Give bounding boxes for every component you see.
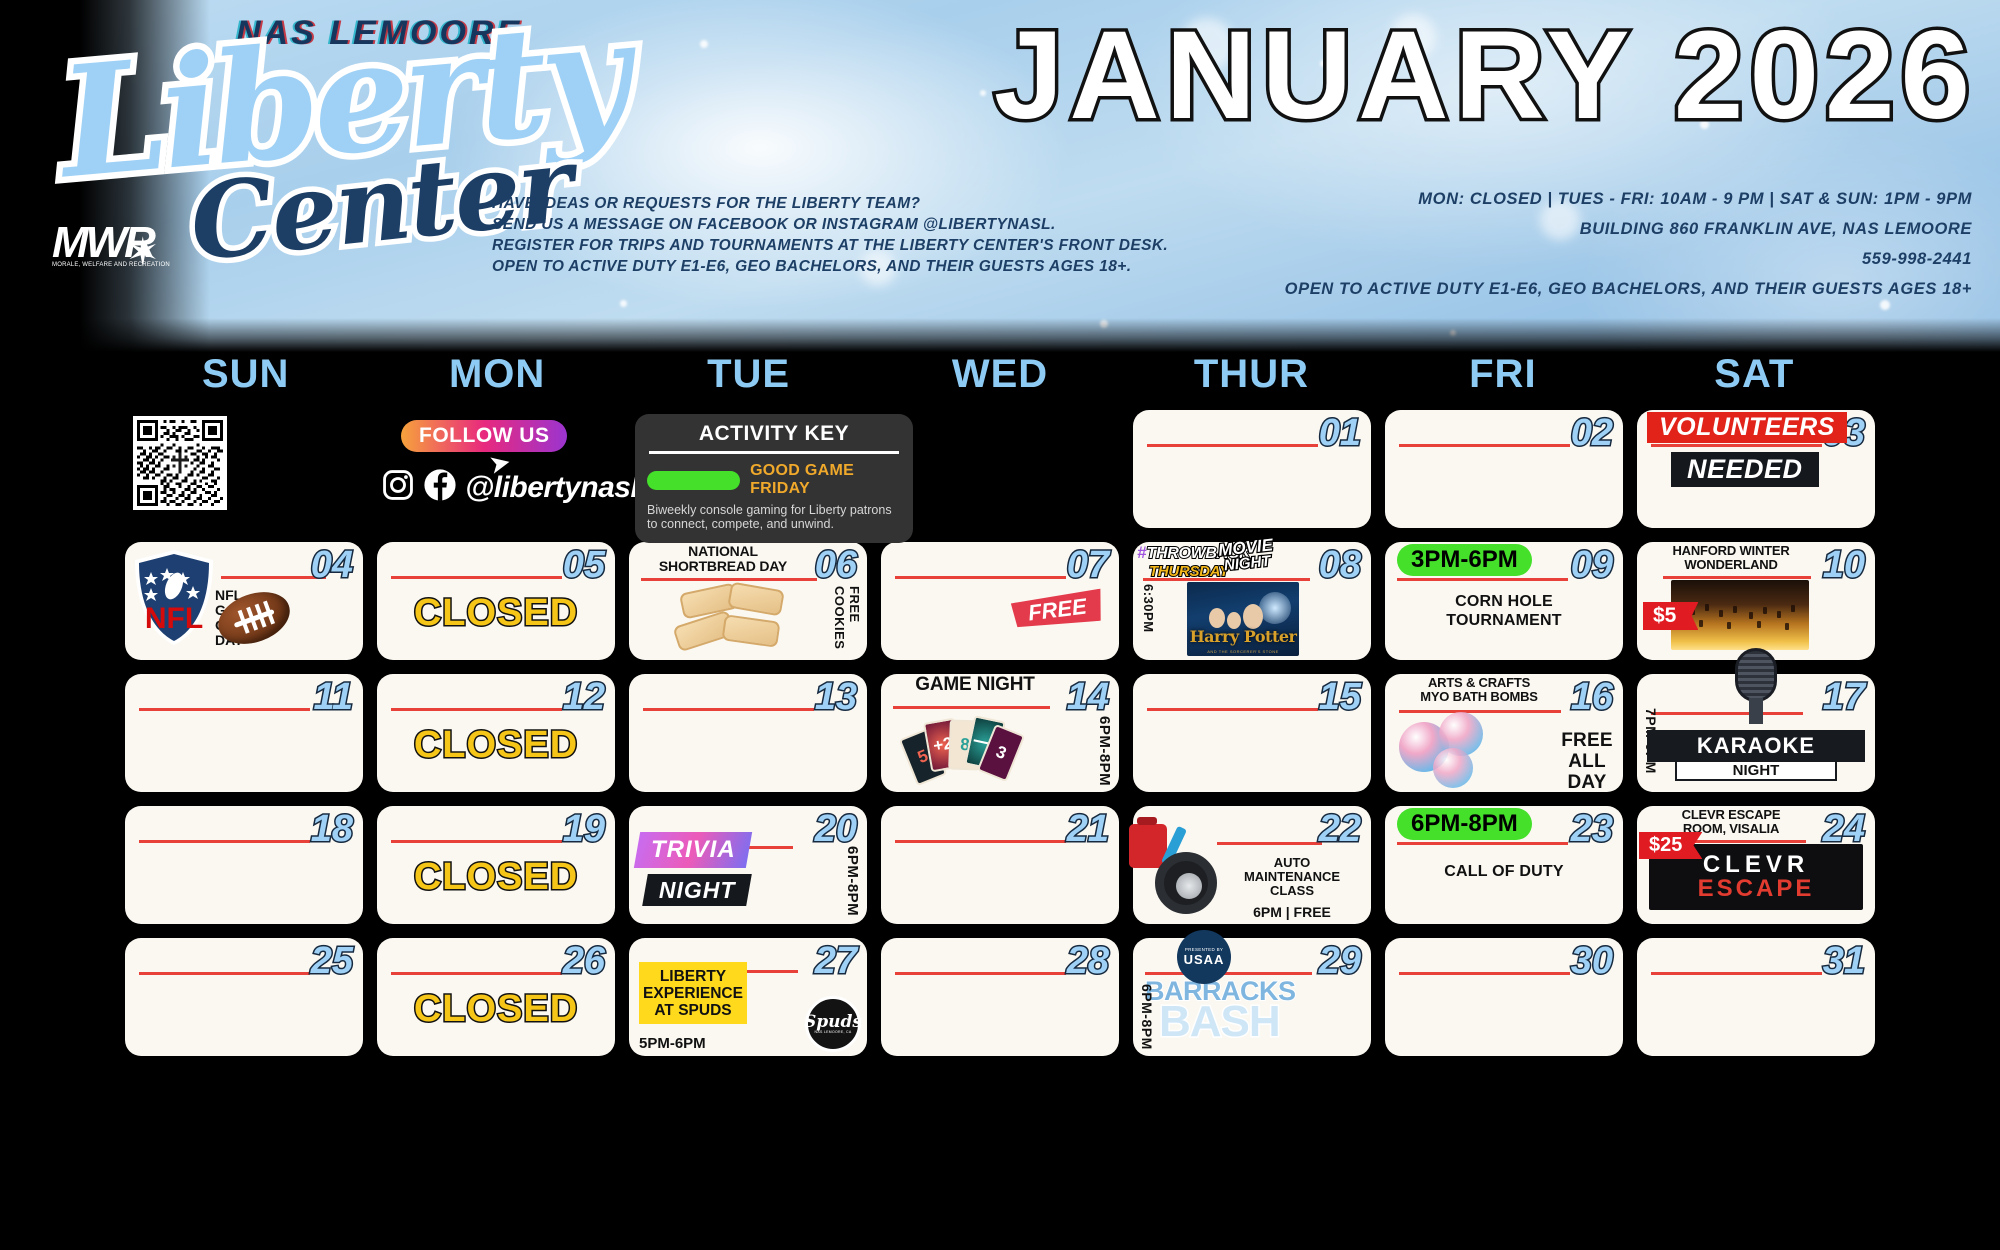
cell-rule bbox=[643, 708, 814, 711]
activity-key-divider bbox=[649, 451, 899, 454]
qr-code-icon bbox=[137, 420, 223, 506]
day-number: 31 bbox=[1823, 942, 1865, 980]
weekday-fri: FRI bbox=[1377, 352, 1628, 406]
karaoke-night-label: NIGHT bbox=[1675, 760, 1837, 781]
day-number: 04 bbox=[311, 546, 353, 584]
page-title: JANUARY 2026 bbox=[994, 16, 1976, 136]
day-cell-22[interactable]: 22 AUTOMAINTENANCECLASS 6PM | FREE bbox=[1133, 806, 1371, 924]
cell-rule bbox=[139, 972, 310, 975]
cell-rule bbox=[893, 706, 1050, 709]
spuds-logo-text: Spuds bbox=[804, 1014, 862, 1030]
day-number: 22 bbox=[1319, 810, 1361, 848]
good-game-friday-label: GOOD GAME FRIDAY bbox=[750, 462, 901, 498]
day-number: 16 bbox=[1571, 678, 1613, 716]
spuds-logo: Spuds NAS LEMOORE, CA bbox=[805, 996, 861, 1052]
day-cell-01[interactable]: 01 bbox=[1133, 410, 1371, 528]
mwr-logo: MWR MORALE, WELFARE AND RECREATION ✶ bbox=[52, 222, 170, 268]
weekday-wed: WED bbox=[874, 352, 1125, 406]
day-cell-09[interactable]: 09 3PM-6PM CORN HOLETOURNAMENT bbox=[1385, 542, 1623, 660]
poster-subtitle: AND THE SORCERER'S STONE bbox=[1187, 649, 1299, 654]
cell-rule bbox=[1651, 972, 1822, 975]
closed-label: CLOSED bbox=[414, 594, 578, 632]
day-number: 25 bbox=[311, 942, 353, 980]
shortbread-title: NATIONALSHORTBREAD DAY bbox=[637, 544, 809, 574]
day-cell-04[interactable]: 04 NFL NFLGAMESON ALLDAY bbox=[125, 542, 363, 660]
free-cookies-vertical-label: FREE COOKIES bbox=[832, 586, 862, 660]
day-cell-21[interactable]: 21 bbox=[881, 806, 1119, 924]
closed-label: CLOSED bbox=[414, 858, 578, 896]
spuds-time-label: 5PM-6PM bbox=[639, 1035, 706, 1052]
day-cell-20[interactable]: 20 TRIVIA NIGHT 6PM-8PM bbox=[629, 806, 867, 924]
movie-night-label: MOVIENIGHT bbox=[1218, 537, 1276, 574]
activity-key-entry: GOOD GAME FRIDAY bbox=[647, 462, 901, 498]
auto-maintenance-image bbox=[1129, 818, 1225, 918]
day-cell-27[interactable]: 27 LIBERTYEXPERIENCEAT SPUDS Spuds NAS L… bbox=[629, 938, 867, 1056]
auto-class-time: 6PM | FREE bbox=[1217, 904, 1367, 920]
day-number: 08 bbox=[1319, 546, 1361, 584]
day-number: 05 bbox=[563, 546, 605, 584]
phone-line: 559-998-2441 bbox=[1285, 244, 1972, 274]
day-cell-25[interactable]: 25 bbox=[125, 938, 363, 1056]
day-number: 02 bbox=[1571, 414, 1613, 452]
good-game-friday-chip bbox=[647, 471, 740, 490]
day-number: 19 bbox=[563, 810, 605, 848]
qr-code[interactable] bbox=[133, 416, 227, 510]
day-number: 01 bbox=[1319, 414, 1361, 452]
day-cell-17[interactable]: 17 7PM-9PM KARAOKE NIGHT bbox=[1637, 674, 1875, 792]
price-tag: $25 bbox=[1639, 832, 1702, 859]
activity-key-panel: ACTIVITY KEY GOOD GAME FRIDAY Biweekly c… bbox=[635, 414, 913, 543]
day-cell-02[interactable]: 02 bbox=[1385, 410, 1623, 528]
weekday-sun: SUN bbox=[120, 352, 371, 406]
escape-word: ESCAPE bbox=[1698, 877, 1815, 901]
bath-bombs-image bbox=[1399, 704, 1495, 786]
header-info-left-line-2: SEND US A MESSAGE ON FACEBOOK OR INSTAGR… bbox=[492, 214, 1168, 235]
time-vertical-label: 6:30PM bbox=[1141, 584, 1156, 633]
time-vertical-label: 6PM-8PM bbox=[844, 846, 861, 916]
day-number: 10 bbox=[1823, 546, 1865, 584]
activity-key-title: ACTIVITY KEY bbox=[647, 422, 901, 446]
day-number: 07 bbox=[1067, 546, 1109, 584]
address-line: BUILDING 860 FRANKLIN AVE, NAS LEMOORE bbox=[1285, 214, 1972, 244]
weekday-sat: SAT bbox=[1629, 352, 1880, 406]
clevr-word: CLEVR bbox=[1703, 853, 1809, 877]
activity-key-cell: ACTIVITY KEY GOOD GAME FRIDAY Biweekly c… bbox=[629, 410, 867, 528]
cell-rule bbox=[641, 578, 817, 581]
day-number: 30 bbox=[1571, 942, 1613, 980]
header-info-left-line-3: REGISTER FOR TRIPS AND TOURNAMENTS AT TH… bbox=[492, 235, 1168, 256]
time-vertical-label: 6PM-8PM bbox=[1096, 716, 1113, 786]
poster-header: NAS LEMOORE Liberty Center MWR MORALE, W… bbox=[0, 0, 2000, 352]
day-number: 28 bbox=[1067, 942, 1109, 980]
cell-rule bbox=[895, 972, 1066, 975]
free-ribbon: FREE bbox=[1011, 589, 1105, 632]
cell-rule bbox=[895, 576, 1066, 579]
spuds-logo-subtext: NAS LEMOORE, CA bbox=[815, 1030, 852, 1034]
good-game-friday-description: Biweekly console gaming for Liberty patr… bbox=[647, 503, 901, 531]
facebook-icon[interactable] bbox=[423, 468, 457, 507]
call-of-duty-text: CALL OF DUTY bbox=[1402, 862, 1607, 881]
svg-text:NFL: NFL bbox=[145, 602, 203, 635]
header-info-right: MON: CLOSED | TUES - FRI: 10AM - 9 PM | … bbox=[1285, 184, 1972, 304]
eligibility-line: OPEN TO ACTIVE DUTY E1-E6, GEO BACHELORS… bbox=[1285, 274, 1972, 304]
hanford-title: HANFORD WINTERWONDERLAND bbox=[1645, 544, 1817, 572]
day-number: 09 bbox=[1571, 546, 1613, 584]
karaoke-label: KARAOKE bbox=[1647, 730, 1865, 762]
night-banner: NIGHT bbox=[642, 874, 752, 906]
day-number: 15 bbox=[1319, 678, 1361, 716]
day-number: 26 bbox=[563, 942, 605, 980]
promo-follow-cell: FOLLOW US ➤ @libertynasl bbox=[377, 410, 615, 528]
liberty-experience-banner: LIBERTYEXPERIENCEAT SPUDS bbox=[639, 962, 747, 1024]
usaa-label: USAA bbox=[1184, 952, 1225, 967]
closed-label: CLOSED bbox=[414, 990, 578, 1028]
harry-potter-poster-image: Harry Potter AND THE SORCERER'S STONE bbox=[1187, 582, 1299, 656]
day-cell-28[interactable]: 28 bbox=[881, 938, 1119, 1056]
day-number: 20 bbox=[815, 810, 857, 848]
day-number: 21 bbox=[1067, 810, 1109, 848]
calendar-grid: FOLLOW US ➤ @libertynasl ACTIVITY KEY bbox=[0, 406, 2000, 1056]
day-number: 13 bbox=[815, 678, 857, 716]
day-cell-30[interactable]: 30 bbox=[1385, 938, 1623, 1056]
promo-qr-cell bbox=[125, 410, 363, 528]
cell-rule bbox=[391, 972, 562, 975]
cell-rule bbox=[1145, 972, 1312, 975]
time-pill: 3PM-6PM bbox=[1397, 544, 1532, 576]
day-number: 18 bbox=[311, 810, 353, 848]
cell-rule bbox=[1663, 576, 1811, 579]
day-cell-24[interactable]: 24 CLEVR ESCAPEROOM, VISALIA CLEVR ESCAP… bbox=[1637, 806, 1875, 924]
day-number: 24 bbox=[1823, 810, 1865, 848]
day-cell-15[interactable]: 15 bbox=[1133, 674, 1371, 792]
corn-hole-tournament-text: CORN HOLETOURNAMENT bbox=[1402, 592, 1607, 630]
weekday-mon: MON bbox=[371, 352, 622, 406]
day-cell-31[interactable]: 31 bbox=[1637, 938, 1875, 1056]
day-cell-06[interactable]: 06 NATIONALSHORTBREAD DAY FREE COOKIES bbox=[629, 542, 867, 660]
instagram-icon[interactable] bbox=[381, 468, 415, 507]
star-icon: ✶ bbox=[126, 238, 160, 268]
trivia-text: TRIVIA bbox=[651, 836, 736, 864]
day-cell-07[interactable]: 07 FREE bbox=[881, 542, 1119, 660]
usaa-badge: PRESENTED BY USAA bbox=[1177, 930, 1231, 984]
cell-rule bbox=[391, 840, 562, 843]
day-number: 29 bbox=[1319, 942, 1361, 980]
cell-rule bbox=[1397, 842, 1568, 845]
cell-rule bbox=[391, 576, 562, 579]
cell-rule bbox=[391, 708, 562, 711]
time-vertical-label: 6PM-8PM bbox=[1139, 984, 1155, 1050]
thursday-text: THURSDAY bbox=[1149, 563, 1229, 580]
cell-rule bbox=[1399, 444, 1570, 447]
weekday-thur: THUR bbox=[1126, 352, 1377, 406]
day-cell-08[interactable]: 08 #THROWBACK THURSDAY MOVIENIGHT 6:30PM… bbox=[1133, 542, 1371, 660]
night-text: NIGHT bbox=[659, 877, 736, 904]
cell-rule bbox=[1397, 578, 1568, 581]
cell-rule bbox=[1147, 708, 1318, 711]
day-cell-05[interactable]: 05 CLOSED bbox=[377, 542, 615, 660]
day-cell-10[interactable]: 10 HANFORD WINTERWONDERLAND $5 bbox=[1637, 542, 1875, 660]
day-cell-29[interactable]: 29 PRESENTED BY USAA BARRACKS BASH 6PM-8… bbox=[1133, 938, 1371, 1056]
day-cell-13[interactable]: 13 bbox=[629, 674, 867, 792]
day-cell-12[interactable]: 12 CLOSED bbox=[377, 674, 615, 792]
day-cell-26[interactable]: 26 CLOSED bbox=[377, 938, 615, 1056]
header-info-left: HAVE IDEAS OR REQUESTS FOR THE LIBERTY T… bbox=[492, 193, 1168, 277]
volunteers-tag: VOLUNTEERS bbox=[1647, 412, 1847, 443]
nfl-logo-icon: NFL bbox=[131, 548, 217, 648]
shortbread-cookies-image bbox=[673, 582, 793, 656]
day-cell-16[interactable]: 16 ARTS & CRAFTSMYO BATH BOMBS FREEALL D… bbox=[1385, 674, 1623, 792]
header-info-left-line-1: HAVE IDEAS OR REQUESTS FOR THE LIBERTY T… bbox=[492, 193, 1168, 214]
header-info-left-line-4: OPEN TO ACTIVE DUTY E1-E6, GEO BACHELORS… bbox=[492, 256, 1168, 277]
time-pill: 6PM-8PM bbox=[1397, 808, 1532, 840]
day-cell-14[interactable]: 14 GAME NIGHT 6PM-8PM 5 +2 8 ⟶ 3 bbox=[881, 674, 1119, 792]
day-number: 11 bbox=[314, 678, 353, 716]
weekday-tue: TUE bbox=[623, 352, 874, 406]
arts-crafts-title: ARTS & CRAFTSMYO BATH BOMBS bbox=[1393, 676, 1565, 704]
day-number: 17 bbox=[1823, 678, 1865, 716]
clevr-escape-title: CLEVR ESCAPEROOM, VISALIA bbox=[1645, 808, 1817, 836]
cell-rule bbox=[1147, 444, 1318, 447]
weekday-header-row: SUN MON TUE WED THUR FRI SAT bbox=[0, 352, 2000, 406]
liberty-experience-text: LIBERTYEXPERIENCEAT SPUDS bbox=[643, 968, 743, 1019]
hours-line: MON: CLOSED | TUES - FRI: 10AM - 9 PM | … bbox=[1285, 184, 1972, 214]
uno-cards-image: 5 +2 8 ⟶ 3 bbox=[907, 714, 1013, 786]
day-number: 14 bbox=[1067, 678, 1109, 716]
microphone-icon bbox=[1721, 648, 1791, 734]
day-number: 27 bbox=[815, 942, 857, 980]
free-all-day-text: FREEALL DAY bbox=[1555, 730, 1619, 793]
bash-text: BASH bbox=[1159, 1000, 1280, 1044]
day-number: 23 bbox=[1571, 810, 1613, 848]
price-tag: $5 bbox=[1643, 602, 1698, 630]
cell-rule bbox=[1217, 842, 1322, 845]
day-cell-11[interactable]: 11 bbox=[125, 674, 363, 792]
header-bottom-fade bbox=[0, 318, 2000, 352]
needed-tag: NEEDED bbox=[1671, 452, 1819, 487]
trivia-banner: TRIVIA bbox=[634, 832, 752, 868]
auto-class-text: AUTOMAINTENANCECLASS bbox=[1217, 856, 1367, 898]
follow-us-button[interactable]: FOLLOW US bbox=[401, 420, 567, 452]
cell-rule bbox=[139, 840, 310, 843]
day-cell-03[interactable]: 03 VOLUNTEERS NEEDED bbox=[1637, 410, 1875, 528]
closed-label: CLOSED bbox=[414, 726, 578, 764]
day-cell-18[interactable]: 18 bbox=[125, 806, 363, 924]
day-cell-23[interactable]: 23 6PM-8PM CALL OF DUTY bbox=[1385, 806, 1623, 924]
day-cell-19[interactable]: 19 CLOSED bbox=[377, 806, 615, 924]
empty-cell-wed-w1 bbox=[881, 410, 1119, 528]
cell-rule bbox=[895, 840, 1066, 843]
poster-title: Harry Potter bbox=[1187, 627, 1299, 646]
day-number: 06 bbox=[815, 546, 857, 584]
game-night-title: GAME NIGHT bbox=[889, 678, 1061, 692]
cell-rule bbox=[139, 708, 310, 711]
day-number: 12 bbox=[563, 678, 605, 716]
cell-rule bbox=[1651, 444, 1822, 447]
cell-rule bbox=[1399, 972, 1570, 975]
